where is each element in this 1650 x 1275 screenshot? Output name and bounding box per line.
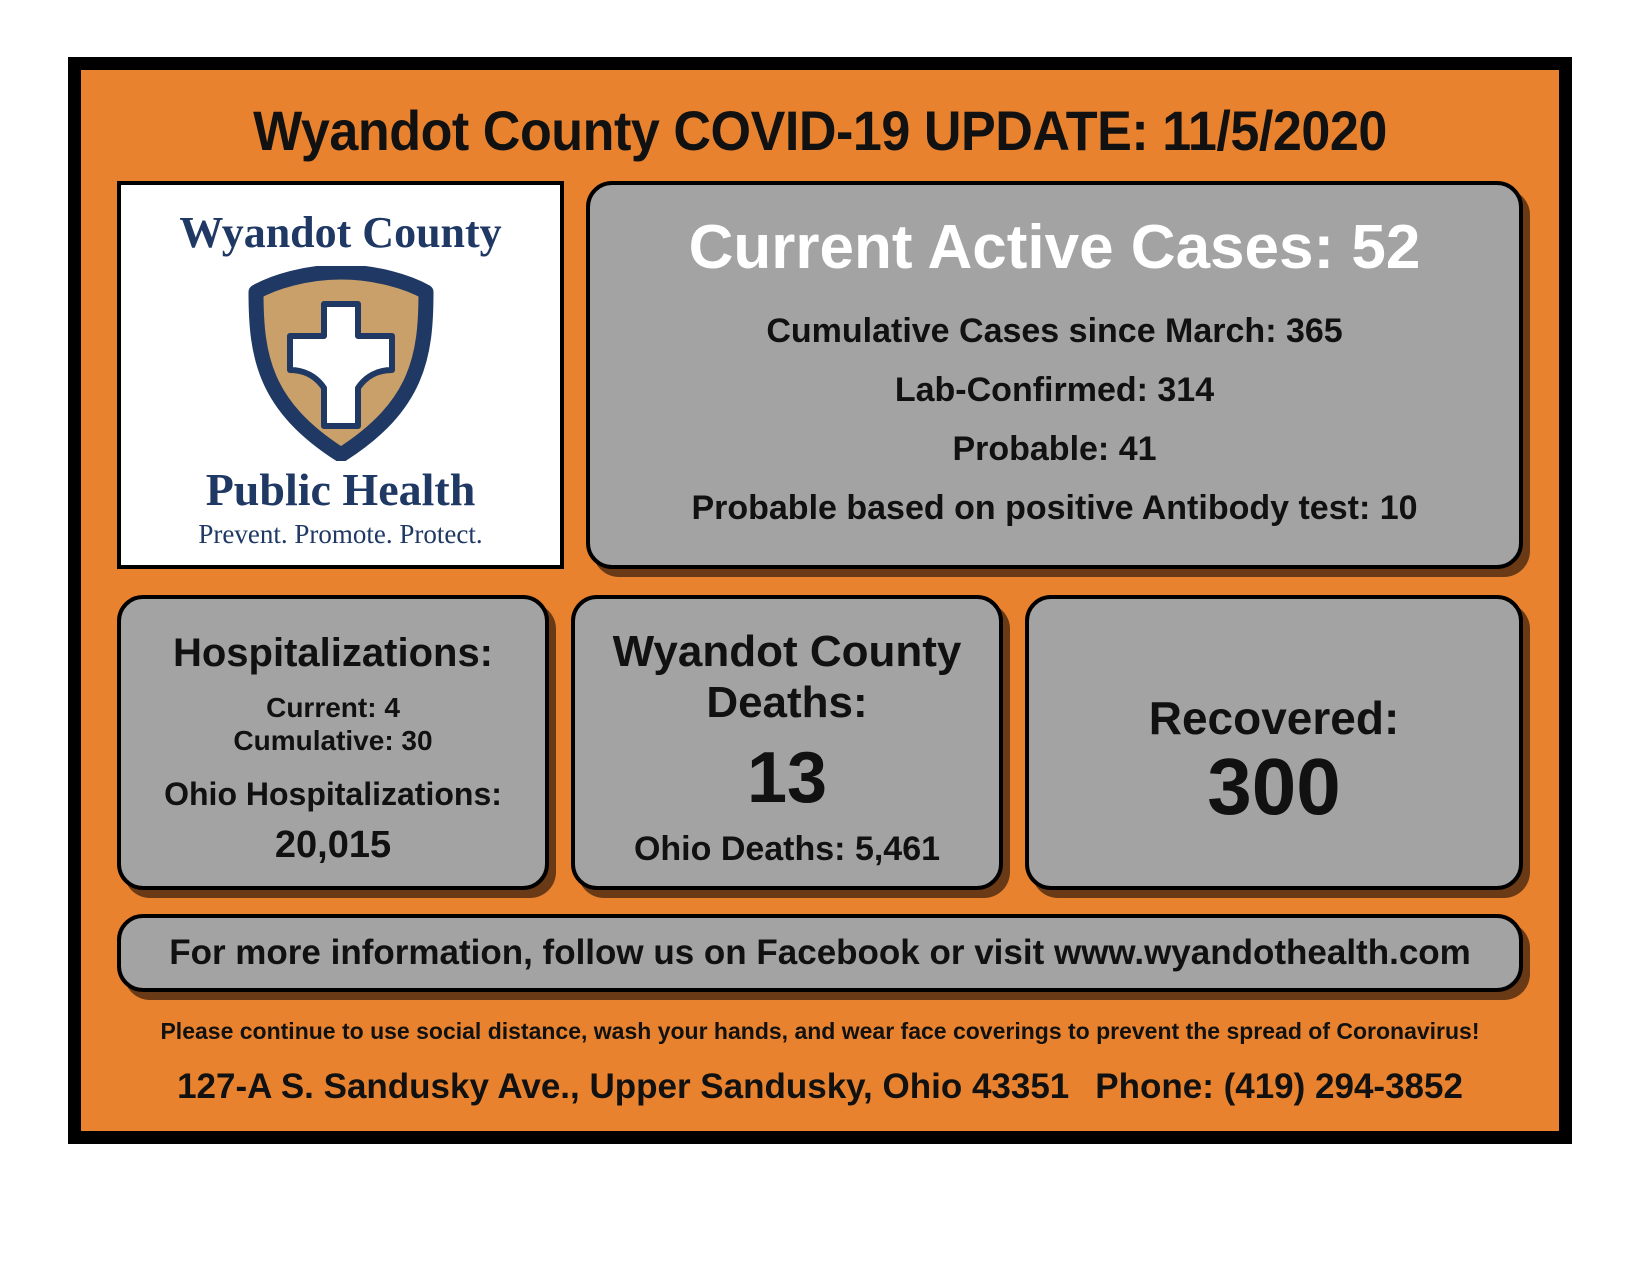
health-shield-cross-icon <box>246 263 436 463</box>
hospitalizations-panel: Hospitalizations: Current: 4 Cumulative:… <box>117 595 549 890</box>
stats-row: Hospitalizations: Current: 4 Cumulative:… <box>117 595 1523 890</box>
logo-top-line: Wyandot County <box>179 211 501 255</box>
active-cases-panel: Current Active Cases: 52 Cumulative Case… <box>586 181 1523 569</box>
lab-confirmed-line: Lab-Confirmed: 314 <box>895 373 1214 407</box>
active-cases-headline: Current Active Cases: 52 <box>689 215 1421 280</box>
deaths-title-line1: Wyandot County <box>613 627 962 678</box>
recovered-title: Recovered: <box>1149 695 1400 741</box>
poster-inner: Wyandot County COVID-19 UPDATE: 11/5/202… <box>81 70 1559 1131</box>
contact-line: 127-A S. Sandusky Ave., Upper Sandusky, … <box>117 1067 1523 1107</box>
hospitalizations-current: Current: 4 <box>266 691 400 724</box>
covid-update-poster: Wyandot County COVID-19 UPDATE: 11/5/202… <box>68 57 1572 1144</box>
agency-logo-card: Wyandot County Public Health Prevent. Pr… <box>117 181 564 569</box>
ohio-hospitalizations-title: Ohio Hospitalizations: <box>164 777 502 812</box>
more-information-bar: For more information, follow us on Faceb… <box>117 914 1523 992</box>
cumulative-cases-line: Cumulative Cases since March: 365 <box>766 314 1342 348</box>
county-deaths-value: 13 <box>747 742 827 814</box>
address-text: 127-A S. Sandusky Ave., Upper Sandusky, … <box>177 1067 972 1106</box>
logo-tagline: Prevent. Promote. Protect. <box>198 519 482 550</box>
probable-line: Probable: 41 <box>952 432 1156 466</box>
deaths-title-line2: Deaths: <box>706 678 867 729</box>
more-information-text: For more information, follow us on Faceb… <box>169 933 1471 973</box>
hospitalizations-cumulative: Cumulative: 30 <box>233 724 432 757</box>
recovered-value: 300 <box>1207 747 1340 827</box>
top-row: Wyandot County Public Health Prevent. Pr… <box>117 181 1523 569</box>
page-title: Wyandot County COVID-19 UPDATE: 11/5/202… <box>166 70 1474 159</box>
recovered-panel: Recovered: 300 <box>1025 595 1523 890</box>
hospitalizations-title: Hospitalizations: <box>173 631 493 675</box>
address-zip: 43351 <box>972 1067 1069 1106</box>
probable-antibody-line: Probable based on positive Antibody test… <box>691 491 1417 525</box>
logo-bottom-line: Public Health <box>206 467 476 513</box>
deaths-panel: Wyandot County Deaths: 13 Ohio Deaths: 5… <box>571 595 1003 890</box>
public-health-notice: Please continue to use social distance, … <box>117 1018 1523 1045</box>
phone-text: Phone: (419) 294-3852 <box>1095 1067 1463 1106</box>
ohio-deaths-value: Ohio Deaths: 5,461 <box>634 832 940 866</box>
ohio-hospitalizations-value: 20,015 <box>275 826 391 864</box>
